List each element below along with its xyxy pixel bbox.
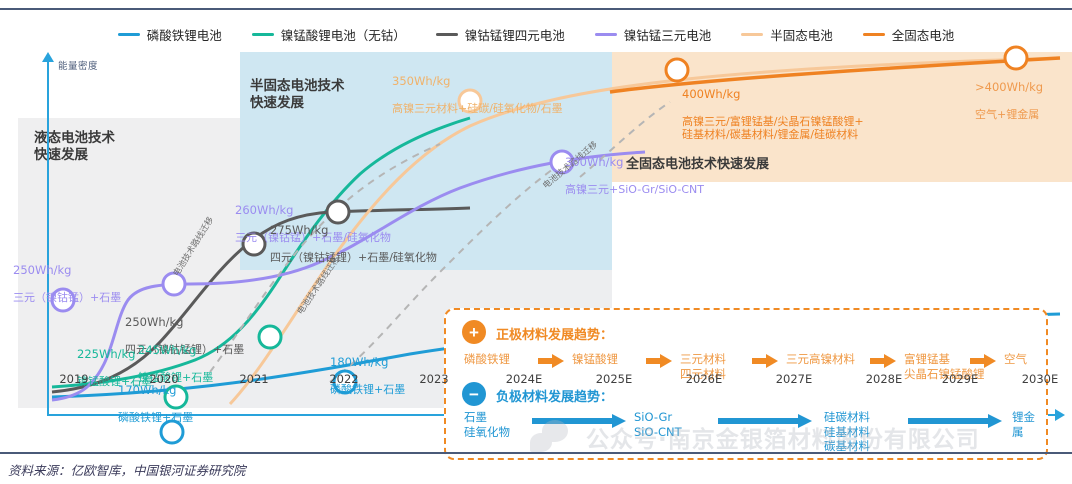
label-ncm-250: 250Wh/kg 三元（镍钴锰）+石墨 xyxy=(13,250,121,318)
x-tick-2030E: 2030E xyxy=(1022,372,1059,386)
x-tick-2020: 2020 xyxy=(149,372,178,386)
legend-swatch-ncm xyxy=(595,33,617,36)
legend-item-semisolid: 半固态电池 xyxy=(741,25,833,44)
legend-swatch-allsolid xyxy=(863,33,885,36)
label-allsolid-400plus: >400Wh/kg 空气+锂金属 xyxy=(975,67,1043,135)
legend-label-allsolid: 全固态电池 xyxy=(892,25,955,44)
x-tick-2028E: 2028E xyxy=(866,372,903,386)
cathode-arrow-2-icon xyxy=(752,354,778,368)
marker-allsolid-400plus xyxy=(1005,47,1027,69)
x-tick-2026E: 2026E xyxy=(686,372,723,386)
bottom-divider xyxy=(0,452,1072,454)
legend-swatch-quaternary xyxy=(436,33,458,36)
x-tick-2019: 2019 xyxy=(59,372,88,386)
cathode-step-1: 镍锰酸锂 xyxy=(572,352,618,367)
x-tick-2021: 2021 xyxy=(239,372,268,386)
legend-swatch-lnmo xyxy=(252,33,274,36)
x-tick-2022: 2022 xyxy=(329,372,358,386)
legend-swatch-lfp xyxy=(118,33,140,36)
legend-item-quaternary: 镍钴锰锂四元电池 xyxy=(436,25,565,44)
label-allsolid-400: 400Wh/kg 高镍三元/富锂锰基/尖晶石镍锰酸锂+ 硅基材料/碳基材料/锂金… xyxy=(682,74,864,155)
x-tick-2024E: 2024E xyxy=(506,372,543,386)
legend-label-ncm: 镍钴锰三元电池 xyxy=(624,25,712,44)
x-tick-2025E: 2025E xyxy=(596,372,633,386)
cathode-step-3: 三元高镍材料 xyxy=(786,352,855,367)
anode-arrow-0-icon xyxy=(532,414,626,428)
x-tick-2023: 2023 xyxy=(419,372,448,386)
anode-arrow-2-icon xyxy=(908,414,1002,428)
chart-legend: 磷酸铁锂电池 镍锰酸锂电池（无钴） 镍钴锰锂四元电池 镍钴锰三元电池 半固态电池… xyxy=(0,22,1072,46)
plot-area: 液态电池技术 快速发展 半固态电池技术 快速发展 全固态电池技术快速发展 能量密… xyxy=(0,52,1072,422)
legend-label-quaternary: 镍钴锰锂四元电池 xyxy=(465,25,565,44)
plus-icon: + xyxy=(462,320,486,344)
legend-item-allsolid: 全固态电池 xyxy=(863,25,955,44)
x-tick-2027E: 2027E xyxy=(776,372,813,386)
legend-item-ncm: 镍钴锰三元电池 xyxy=(595,25,712,44)
top-divider xyxy=(0,8,1072,10)
x-axis-ticks: 2019 2020 2021 2022 2023 2024E 2025E 202… xyxy=(0,372,1072,392)
cathode-arrow-3-icon xyxy=(870,354,896,368)
chart-root: 磷酸铁锂电池 镍锰酸锂电池（无钴） 镍钴锰锂四元电池 镍钴锰三元电池 半固态电池… xyxy=(0,0,1072,484)
cathode-step-5: 空气 xyxy=(1004,352,1027,367)
cathode-arrow-0-icon xyxy=(538,354,564,368)
legend-label-lfp: 磷酸铁锂电池 xyxy=(147,25,222,44)
label-semisolid-350: 350Wh/kg 高镍三元材料+硅碳/硅氧化物/石墨 xyxy=(392,61,563,129)
legend-swatch-semisolid xyxy=(741,33,763,36)
x-tick-2029E: 2029E xyxy=(942,372,979,386)
anode-step-1: SiO-Gr SiO-CNT xyxy=(634,410,682,439)
cathode-arrow-1-icon xyxy=(646,354,672,368)
cathode-arrow-4-icon xyxy=(970,354,996,368)
cathode-step-0: 磷酸铁锂 xyxy=(464,352,510,367)
cathode-heading: 正极材料发展趋势： xyxy=(496,324,613,343)
marker-ncm-250 xyxy=(163,273,185,295)
source-note: 资料来源：亿欧智库，中国银河证券研究院 xyxy=(8,460,246,479)
label-quaternary-275: 275Wh/kg 四元（镍钴锰锂）+石墨/硅氧化物 xyxy=(270,210,437,278)
legend-label-semisolid: 半固态电池 xyxy=(770,25,833,44)
anode-arrow-1-icon xyxy=(718,414,812,428)
anode-step-2: 硅碳材料 硅基材料 碳基材料 xyxy=(824,410,870,454)
anode-step-0: 石墨 硅氧化物 xyxy=(464,410,510,439)
legend-item-lnmo: 镍锰酸锂电池（无钴） xyxy=(252,25,406,44)
legend-label-lnmo: 镍锰酸锂电池（无钴） xyxy=(281,25,406,44)
legend-item-lfp: 磷酸铁锂电池 xyxy=(118,25,222,44)
marker-lnmo-245 xyxy=(259,326,281,348)
anode-step-3: 锂金属 xyxy=(1012,410,1046,439)
